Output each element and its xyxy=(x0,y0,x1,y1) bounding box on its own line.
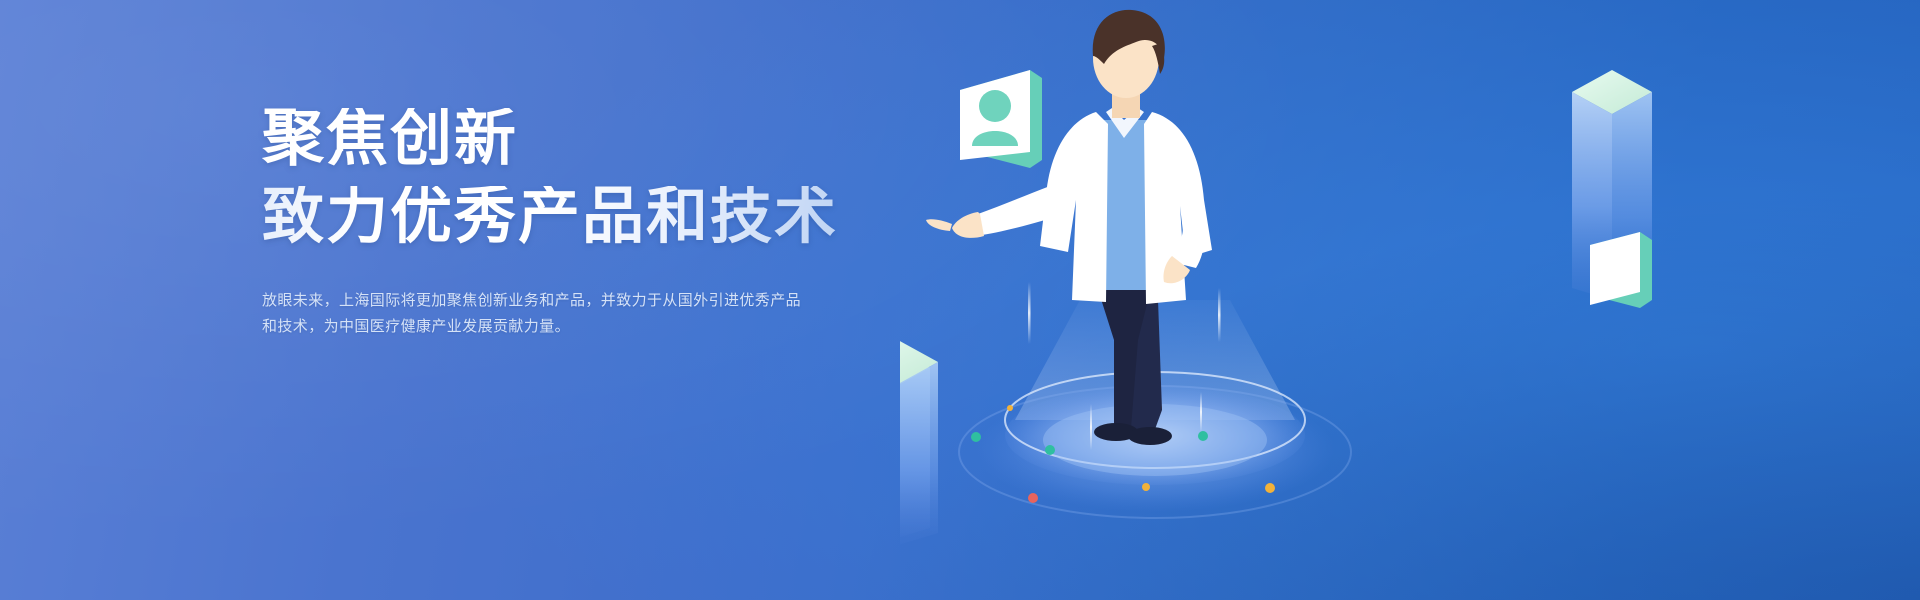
banner-copy: 聚焦创新 致力优秀产品和技术 放眼未来，上海国际将更加聚焦创新业务和产品，并致力… xyxy=(262,108,902,340)
hero-illustration xyxy=(900,0,1920,600)
iso-bar-mid-left xyxy=(900,340,938,545)
subtitle-line-2: 和技术，为中国医疗健康产业发展贡献力量。 xyxy=(262,314,862,340)
floating-card-blank xyxy=(1590,232,1652,308)
subtitle-line-1: 放眼未来，上海国际将更加聚焦创新业务和产品，并致力于从国外引进优秀产品 xyxy=(262,288,862,314)
banner-subtitle: 放眼未来，上海国际将更加聚焦创新业务和产品，并致力于从国外引进优秀产品 和技术，… xyxy=(262,288,862,340)
hero-banner: 聚焦创新 致力优秀产品和技术 放眼未来，上海国际将更加聚焦创新业务和产品，并致力… xyxy=(0,0,1920,600)
floating-card-avatar xyxy=(960,70,1042,168)
headline-line-2: 致力优秀产品和技术 xyxy=(262,186,902,248)
headline-line-1: 聚焦创新 xyxy=(262,108,902,170)
